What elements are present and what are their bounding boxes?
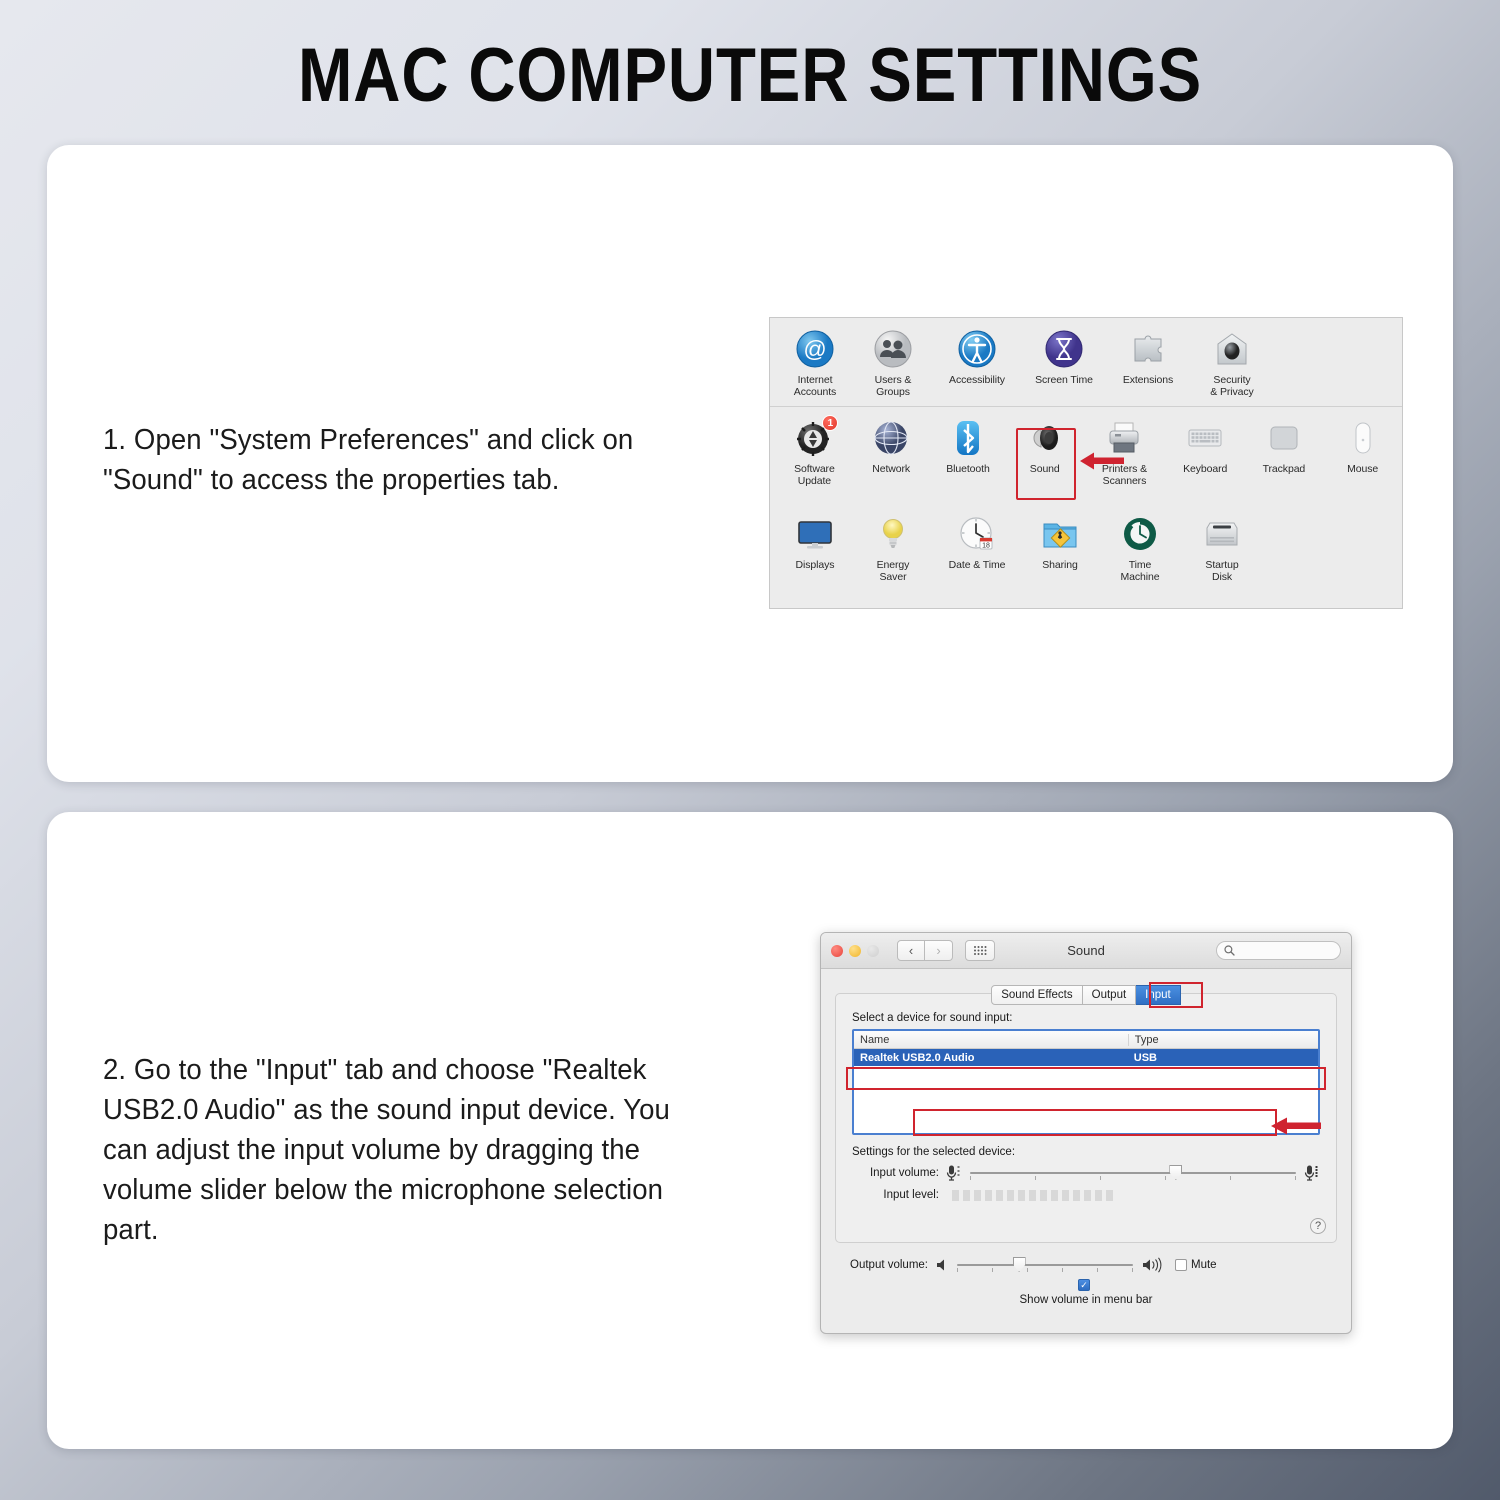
- sound-preferences-window[interactable]: ‹ › Sound Sound Effects Output Input: [820, 932, 1352, 1334]
- pref-label: Security& Privacy: [1190, 375, 1274, 398]
- pref-pane-internet-accounts[interactable]: @ InternetAccounts: [776, 318, 854, 406]
- extensions-icon: [1126, 327, 1170, 371]
- accessibility-icon: [955, 327, 999, 371]
- device-name: Realtek USB2.0 Audio: [854, 1052, 1128, 1064]
- pref-label: EnergySaver: [854, 560, 932, 583]
- output-volume-track: [957, 1264, 1133, 1266]
- tab-output[interactable]: Output: [1083, 985, 1137, 1005]
- pref-pane-screen-time[interactable]: Screen Time: [1022, 318, 1106, 406]
- pref-pane-network[interactable]: Network: [853, 407, 930, 503]
- mic-low-icon: [946, 1164, 962, 1182]
- startup-disk-icon: [1200, 512, 1244, 556]
- close-button[interactable]: [831, 945, 843, 957]
- speaker-low-icon: [935, 1258, 949, 1272]
- pref-pane-date-time[interactable]: 18 Date & Time: [932, 503, 1022, 603]
- pref-pane-trackpad[interactable]: Trackpad: [1245, 407, 1324, 503]
- pref-label: Mouse: [1323, 464, 1402, 476]
- svg-text:@: @: [803, 336, 826, 362]
- date-time-icon: 18: [955, 512, 999, 556]
- step-1-text: 1. Open "System Preferences" and click o…: [103, 420, 673, 500]
- pref-label: StartupDisk: [1182, 560, 1262, 583]
- output-volume-area: Output volume:: [835, 1257, 1337, 1306]
- search-icon: [1224, 945, 1235, 956]
- pref-label: InternetAccounts: [776, 375, 854, 398]
- displays-icon: [793, 512, 837, 556]
- pref-pane-keyboard[interactable]: Keyboard: [1166, 407, 1245, 503]
- device-list-row[interactable]: Realtek USB2.0 Audio USB: [854, 1049, 1318, 1066]
- show-volume-label: Show volume in menu bar: [1020, 1294, 1153, 1306]
- back-button[interactable]: ‹: [897, 940, 925, 961]
- sound-window-titlebar: ‹ › Sound: [821, 933, 1351, 969]
- help-button[interactable]: ?: [1310, 1218, 1326, 1234]
- mute-checkbox-group[interactable]: Mute: [1175, 1259, 1217, 1271]
- step-2-text: 2. Go to the "Input" tab and choose "Rea…: [103, 1050, 673, 1250]
- pref-pane-software-update[interactable]: 1 SoftwareUpdate: [776, 407, 853, 503]
- sound-pane-highlight-box: [1016, 428, 1076, 500]
- search-field[interactable]: [1216, 941, 1341, 960]
- network-icon: [869, 416, 913, 460]
- tab-sound-effects[interactable]: Sound Effects: [991, 985, 1082, 1005]
- speaker-high-icon: [1141, 1257, 1165, 1273]
- pref-pane-startup-disk[interactable]: StartupDisk: [1182, 503, 1262, 603]
- pref-label: SoftwareUpdate: [776, 464, 853, 487]
- security-privacy-icon: [1210, 327, 1254, 371]
- energy-saver-icon: [871, 512, 915, 556]
- pref-pane-security-privacy[interactable]: Security& Privacy: [1190, 318, 1274, 406]
- pref-pane-mouse[interactable]: Mouse: [1323, 407, 1402, 503]
- input-level-label: Input level:: [852, 1189, 946, 1201]
- column-header-type: Type: [1128, 1034, 1318, 1046]
- output-volume-slider[interactable]: [957, 1258, 1133, 1272]
- sharing-icon: [1038, 512, 1082, 556]
- pref-label: Network: [853, 464, 930, 476]
- input-volume-row[interactable]: Input volume:: [852, 1164, 1320, 1182]
- device-type: USB: [1128, 1052, 1318, 1064]
- show-volume-group[interactable]: ✓ Show volume in menu bar: [835, 1279, 1337, 1306]
- sound-tabstrip[interactable]: Sound Effects Output Input: [835, 985, 1337, 1005]
- input-tab-highlight-box: [1149, 982, 1203, 1008]
- svg-text:18: 18: [982, 543, 990, 550]
- page-title: MAC COMPUTER SETTINGS: [105, 32, 1395, 119]
- pref-pane-displays[interactable]: Displays: [776, 503, 854, 603]
- pref-pane-users-groups[interactable]: Users &Groups: [854, 318, 932, 406]
- pref-label: Extensions: [1106, 375, 1190, 387]
- show-volume-checkbox[interactable]: ✓: [1078, 1279, 1090, 1291]
- sound-pointer-arrow-icon: [1080, 452, 1124, 470]
- output-volume-label: Output volume:: [835, 1259, 935, 1271]
- time-machine-icon: [1118, 512, 1162, 556]
- device-section-label: Select a device for sound input:: [852, 1012, 1320, 1024]
- pref-label: Screen Time: [1022, 375, 1106, 387]
- input-volume-label: Input volume:: [852, 1167, 946, 1179]
- pref-label: Sharing: [1022, 560, 1098, 572]
- keyboard-icon: [1183, 416, 1227, 460]
- input-level-row: Input level:: [852, 1189, 1320, 1201]
- syspref-row-3: Displays EnergySaver: [770, 503, 1402, 603]
- pref-label: Bluetooth: [930, 464, 1007, 476]
- screen-time-icon: [1042, 327, 1086, 371]
- pref-label: Displays: [776, 560, 854, 572]
- input-volume-pointer-arrow-icon: [1271, 1117, 1321, 1135]
- sound-window-body: Sound Effects Output Input Select a devi…: [821, 969, 1351, 1334]
- forward-button[interactable]: ›: [925, 940, 953, 961]
- users-groups-icon: [871, 327, 915, 371]
- mouse-icon: [1341, 416, 1385, 460]
- pref-pane-extensions[interactable]: Extensions: [1106, 318, 1190, 406]
- pref-pane-sharing[interactable]: Sharing: [1022, 503, 1098, 603]
- column-header-name: Name: [854, 1034, 1128, 1046]
- mic-high-icon: [1304, 1164, 1320, 1182]
- output-volume-ticks: [957, 1268, 1133, 1272]
- pref-label: Users &Groups: [854, 375, 932, 398]
- minimize-button[interactable]: [849, 945, 861, 957]
- show-all-grid-button[interactable]: [965, 940, 995, 961]
- input-level-meter: [952, 1190, 1113, 1201]
- input-settings-panel: Select a device for sound input: Name Ty…: [835, 993, 1337, 1243]
- pref-label: Keyboard: [1166, 464, 1245, 476]
- pref-label: Date & Time: [932, 560, 1022, 572]
- pref-pane-time-machine[interactable]: TimeMachine: [1098, 503, 1182, 603]
- zoom-button: [867, 945, 879, 957]
- input-volume-track: [970, 1172, 1296, 1174]
- pref-pane-bluetooth[interactable]: Bluetooth: [930, 407, 1007, 503]
- trackpad-icon: [1262, 416, 1306, 460]
- output-volume-row[interactable]: Output volume:: [835, 1257, 1337, 1273]
- input-volume-ticks: [970, 1176, 1296, 1180]
- mute-label: Mute: [1191, 1259, 1217, 1271]
- input-volume-slider[interactable]: [970, 1166, 1296, 1180]
- bluetooth-icon: [946, 416, 990, 460]
- internet-accounts-icon: @: [793, 327, 837, 371]
- device-list-header: Name Type: [854, 1031, 1318, 1049]
- pref-label: Trackpad: [1245, 464, 1324, 476]
- settings-section-label: Settings for the selected device:: [852, 1146, 1320, 1158]
- pref-label: TimeMachine: [1098, 560, 1182, 583]
- input-device-list[interactable]: Name Type Realtek USB2.0 Audio USB: [852, 1029, 1320, 1135]
- pref-pane-energy-saver[interactable]: EnergySaver: [854, 503, 932, 603]
- pref-pane-accessibility[interactable]: Accessibility: [932, 318, 1022, 406]
- software-update-icon: 1: [792, 416, 836, 460]
- syspref-row-1: @ InternetAccounts Users &Groups: [770, 318, 1402, 406]
- mute-checkbox[interactable]: [1175, 1259, 1187, 1271]
- pref-label: Accessibility: [932, 375, 1022, 387]
